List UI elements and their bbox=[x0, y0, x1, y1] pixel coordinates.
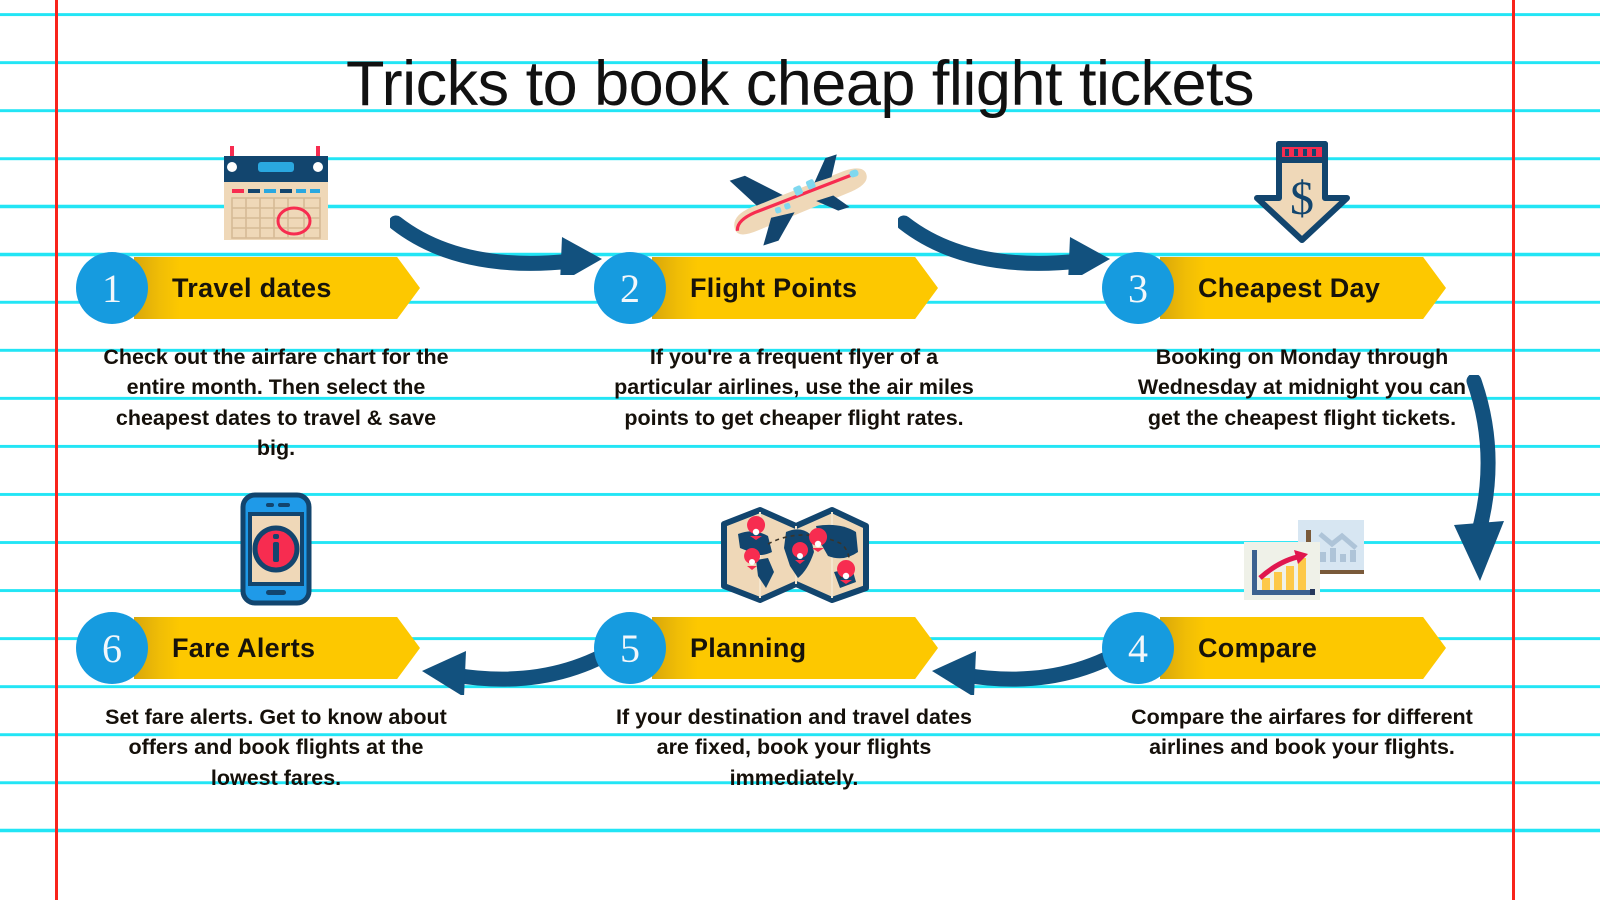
step-4-icon-area bbox=[1102, 488, 1502, 608]
step-3-label: Cheapest Day bbox=[1198, 257, 1380, 319]
step-5-number-badge: 5 bbox=[594, 612, 666, 684]
step-2-description: If you're a frequent flyer of a particul… bbox=[594, 342, 994, 433]
step-card-2: 2 Flight Points If you're a frequent fly… bbox=[594, 128, 994, 433]
step-5-label: Planning bbox=[690, 617, 806, 679]
step-1-label: Travel dates bbox=[172, 257, 332, 319]
world-map-icon bbox=[716, 496, 872, 608]
arrow-step3-to-step4 bbox=[1448, 375, 1538, 615]
step-5-icon-area bbox=[594, 488, 994, 608]
step-card-3: $ 3 Cheapest Day Booking on Monday throu… bbox=[1102, 128, 1502, 433]
airplane-icon bbox=[712, 148, 877, 248]
calendar-icon bbox=[216, 136, 336, 248]
step-2-number-badge: 2 bbox=[594, 252, 666, 324]
price-drop-arrow-icon: $ bbox=[1249, 136, 1355, 248]
step-3-description: Booking on Monday through Wednesday at m… bbox=[1102, 342, 1502, 433]
step-4-banner[interactable]: 4 Compare bbox=[1102, 612, 1502, 684]
step-6-number-badge: 6 bbox=[76, 612, 148, 684]
left-margin-line bbox=[55, 0, 58, 900]
step-3-icon-area: $ bbox=[1102, 128, 1502, 248]
arrow-step1-to-step2 bbox=[390, 205, 630, 275]
step-3-number-badge: 3 bbox=[1102, 252, 1174, 324]
step-4-number-badge: 4 bbox=[1102, 612, 1174, 684]
step-2-label: Flight Points bbox=[690, 257, 857, 319]
mobile-alert-icon bbox=[238, 490, 314, 608]
step-6-icon-area bbox=[76, 488, 476, 608]
svg-text:$: $ bbox=[1290, 172, 1314, 225]
step-6-label: Fare Alerts bbox=[172, 617, 315, 679]
comparison-charts-icon bbox=[1236, 508, 1368, 608]
arrow-step2-to-step3 bbox=[898, 205, 1138, 275]
step-3-banner[interactable]: 3 Cheapest Day bbox=[1102, 252, 1502, 324]
page-title: Tricks to book cheap flight tickets bbox=[0, 48, 1600, 120]
step-1-number-badge: 1 bbox=[76, 252, 148, 324]
step-4-label: Compare bbox=[1198, 617, 1317, 679]
step-card-1: 1 Travel dates Check out the airfare cha… bbox=[76, 128, 476, 463]
step-card-4: 4 Compare Compare the airfares for diffe… bbox=[1102, 488, 1502, 763]
step-5-description: If your destination and travel dates are… bbox=[594, 702, 994, 793]
step-4-description: Compare the airfares for different airli… bbox=[1102, 702, 1502, 763]
step-6-description: Set fare alerts. Get to know about offer… bbox=[76, 702, 476, 793]
step-1-description: Check out the airfare chart for the enti… bbox=[76, 342, 476, 463]
